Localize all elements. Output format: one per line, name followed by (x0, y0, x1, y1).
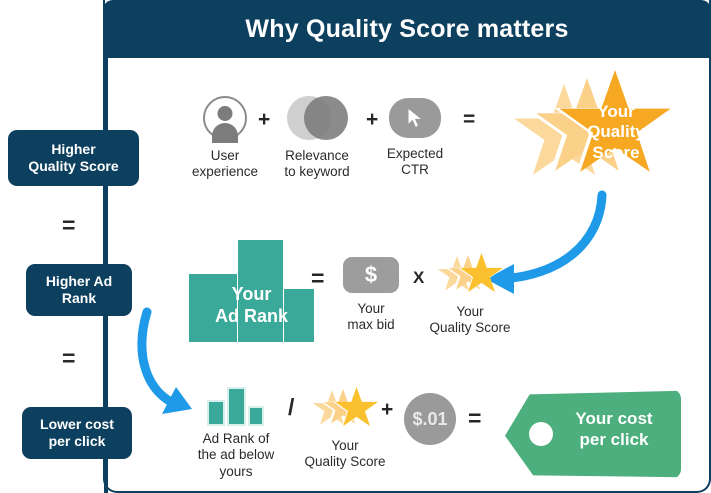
ad-rank-below-caption-line1: Ad Rank of (187, 431, 285, 447)
relevance-caption-line2: to keyword (272, 164, 362, 180)
operator-plus-row3: + (381, 398, 393, 422)
ad-rank-label-line1: Your (189, 284, 314, 306)
operator-equals-row2: = (311, 265, 324, 292)
pill-label-line2: Rank (46, 290, 112, 307)
spine-operator-equals-1: = (60, 212, 77, 239)
expected-ctr-caption-line2: CTR (380, 162, 450, 178)
relevance-caption-line1: Relevance (272, 148, 362, 164)
max-bid-caption-line2: max bid (341, 317, 401, 333)
price-tag-hole (529, 422, 553, 446)
cpc-label-line2: per click (553, 430, 675, 451)
big-star-label-line1: Your (570, 102, 662, 122)
expected-ctr-caption-line1: Expected (380, 146, 450, 162)
operator-times-row2: X (413, 268, 424, 288)
card-header: Why Quality Score matters (103, 0, 711, 58)
cursor-glyph (405, 107, 425, 129)
big-star-label-line2: Quality (570, 122, 662, 142)
user-experience-caption-line2: experience (186, 164, 264, 180)
pill-label-line1: Higher (28, 141, 118, 158)
max-bid-caption-line1: Your (341, 301, 401, 317)
qs-small-caption-line2: Quality Score (300, 454, 390, 470)
spine-operator-equals-2: = (60, 345, 77, 372)
penny-icon: $.01 (404, 393, 456, 445)
sidebar-item-higher-quality-score[interactable]: Higher Quality Score (8, 130, 139, 186)
operator-plus-2: + (366, 108, 378, 132)
user-experience-node: User experience (186, 96, 264, 181)
operator-equals-row3: = (468, 405, 481, 432)
operator-equals-row1: = (463, 108, 475, 132)
dollar-icon: $ (343, 257, 399, 293)
ad-rank-below-node: Ad Rank of the ad below yours (187, 387, 285, 480)
your-cost-per-click-tag: Your cost per click (505, 389, 681, 479)
venn-circles-icon (287, 96, 347, 140)
your-max-bid-node: $ Your max bid (341, 257, 401, 334)
cpc-label-line1: Your cost (553, 409, 675, 430)
page-title: Why Quality Score matters (245, 15, 568, 44)
quality-score-small-star-node-row3: Your Quality Score (300, 386, 390, 471)
pill-label-line2: per click (40, 433, 114, 450)
qs-small-caption-line1: Your (424, 304, 516, 320)
ad-rank-below-caption-line3: yours (187, 464, 285, 480)
qs-small-caption-line2: Quality Score (424, 320, 516, 336)
star-cluster-icon (312, 386, 378, 432)
user-experience-caption-line1: User (186, 148, 264, 164)
bar-chart-icon (205, 387, 267, 425)
one-cent-node: $.01 (404, 393, 456, 445)
operator-plus-1: + (258, 108, 270, 132)
quality-score-small-star-node-row2: Your Quality Score (424, 252, 516, 337)
expected-ctr-node: Expected CTR (380, 98, 450, 179)
big-star-label-line3: Score (570, 143, 662, 163)
person-icon (203, 96, 247, 140)
pill-label-line1: Higher Ad (46, 273, 112, 290)
ad-rank-below-caption-line2: the ad below (187, 447, 285, 463)
qs-small-caption-line1: Your (300, 438, 390, 454)
sidebar-item-higher-ad-rank[interactable]: Higher Ad Rank (26, 264, 132, 316)
star-cluster-icon (437, 252, 503, 298)
cursor-icon (389, 98, 441, 138)
operator-divide-row3: / (288, 394, 294, 421)
pill-label-line2: Quality Score (28, 158, 118, 175)
sidebar-item-lower-cost-per-click[interactable]: Lower cost per click (22, 407, 132, 459)
pill-label-line1: Lower cost (40, 416, 114, 433)
relevance-to-keyword-node: Relevance to keyword (272, 96, 362, 181)
